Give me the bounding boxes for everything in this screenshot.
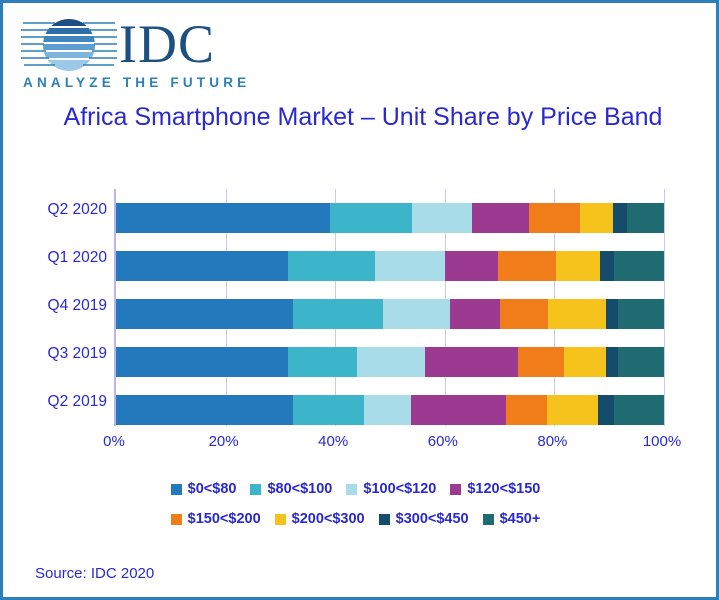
bar-segment[interactable]: [288, 251, 375, 281]
bar-segment[interactable]: [383, 299, 450, 329]
bar-segment[interactable]: [556, 251, 600, 281]
legend-swatch-icon: [250, 484, 261, 495]
legend-swatch-icon: [450, 484, 461, 495]
legend-label: $80<$100: [267, 481, 332, 497]
legend-item[interactable]: $0<$80: [171, 481, 237, 497]
bar-segment[interactable]: [425, 347, 518, 377]
chart-legend: $0<$80$80<$100$100<$120$120<$150$150<$20…: [3, 481, 719, 543]
legend-item[interactable]: $80<$100: [250, 481, 332, 497]
legend-row: $0<$80$80<$100$100<$120$120<$150: [3, 481, 719, 497]
bar-segment[interactable]: [548, 299, 606, 329]
bar-segment[interactable]: [116, 251, 288, 281]
chart-card: IDC ANALYZE THE FUTURE Africa Smartphone…: [0, 0, 719, 600]
bar-segment[interactable]: [506, 395, 547, 425]
bar-segment[interactable]: [472, 203, 529, 233]
legend-label: $0<$80: [188, 481, 237, 497]
y-axis-category-labels: Q2 2020Q1 2020Q4 2019Q3 2019Q2 2019: [23, 183, 111, 426]
bar-row: [116, 203, 662, 233]
bar-segment[interactable]: [618, 299, 664, 329]
bar-segment[interactable]: [375, 251, 445, 281]
bar-segment[interactable]: [614, 251, 664, 281]
legend-swatch-icon: [379, 514, 390, 525]
bar-segment[interactable]: [598, 395, 614, 425]
legend-item[interactable]: $450+: [483, 511, 541, 527]
bar-row: [116, 395, 662, 425]
legend-swatch-icon: [275, 514, 286, 525]
legend-item[interactable]: $300<$450: [379, 511, 469, 527]
bar-segment[interactable]: [618, 347, 664, 377]
x-tick-40pct: 40%: [318, 433, 348, 450]
bar-row: [116, 347, 662, 377]
bar-segment[interactable]: [116, 299, 293, 329]
x-tick-20pct: 20%: [209, 433, 239, 450]
idc-globe-icon: [21, 17, 117, 73]
bar-row: [116, 299, 662, 329]
chart-title: Africa Smartphone Market – Unit Share by…: [63, 101, 663, 134]
x-tick-100pct: 100%: [643, 433, 681, 450]
legend-row: $150<$200$200<$300$300<$450$450+: [3, 511, 719, 527]
legend-swatch-icon: [171, 484, 182, 495]
y-axis-label-q2-2020: Q2 2020: [23, 201, 107, 219]
bar-segment[interactable]: [614, 395, 664, 425]
legend-label: $200<$300: [292, 511, 365, 527]
x-axis-tick-labels: 0%20%40%60%80%100%: [114, 433, 662, 457]
legend-label: $450+: [500, 511, 541, 527]
legend-item[interactable]: $200<$300: [275, 511, 365, 527]
bar-segment[interactable]: [116, 347, 288, 377]
legend-item[interactable]: $150<$200: [171, 511, 261, 527]
bar-segment[interactable]: [547, 395, 599, 425]
plot-area: [114, 189, 662, 426]
bar-segment[interactable]: [357, 347, 425, 377]
x-tick-60pct: 60%: [428, 433, 458, 450]
idc-logo: IDC ANALYZE THE FUTURE: [21, 17, 301, 91]
legend-label: $150<$200: [188, 511, 261, 527]
bar-segment[interactable]: [529, 203, 580, 233]
bar-segment[interactable]: [500, 299, 548, 329]
legend-label: $100<$120: [363, 481, 436, 497]
legend-swatch-icon: [483, 514, 494, 525]
bar-segment[interactable]: [288, 347, 357, 377]
y-axis-label-q4-2019: Q4 2019: [23, 297, 107, 315]
bar-segment[interactable]: [293, 299, 383, 329]
chart-plot: Q2 2020Q1 2020Q4 2019Q3 2019Q2 2019 0%20…: [3, 183, 719, 448]
legend-label: $300<$450: [396, 511, 469, 527]
legend-swatch-icon: [346, 484, 357, 495]
bar-segment[interactable]: [293, 395, 364, 425]
legend-item[interactable]: $100<$120: [346, 481, 436, 497]
bar-segment[interactable]: [606, 299, 618, 329]
bar-segment[interactable]: [580, 203, 613, 233]
bar-segment[interactable]: [412, 203, 472, 233]
bar-segment[interactable]: [613, 203, 627, 233]
y-axis-label-q1-2020: Q1 2020: [23, 249, 107, 267]
idc-wordmark: IDC: [119, 13, 215, 75]
idc-tagline: ANALYZE THE FUTURE: [23, 75, 250, 90]
bar-segment[interactable]: [116, 203, 330, 233]
legend-swatch-icon: [171, 514, 182, 525]
legend-label: $120<$150: [467, 481, 540, 497]
x-tick-80pct: 80%: [537, 433, 567, 450]
bar-segment[interactable]: [627, 203, 664, 233]
legend-item[interactable]: $120<$150: [450, 481, 540, 497]
bar-segment[interactable]: [411, 395, 506, 425]
bar-segment[interactable]: [564, 347, 606, 377]
bar-segment[interactable]: [364, 395, 411, 425]
x-tick-0pct: 0%: [103, 433, 125, 450]
bar-segment[interactable]: [445, 251, 498, 281]
gridline-100: [664, 189, 665, 426]
source-note: Source: IDC 2020: [35, 565, 154, 582]
y-axis-label-q2-2019: Q2 2019: [23, 393, 107, 411]
bar-segment[interactable]: [498, 251, 556, 281]
bar-segment[interactable]: [606, 347, 618, 377]
bar-segment[interactable]: [116, 395, 293, 425]
bar-segment[interactable]: [518, 347, 564, 377]
bar-segment[interactable]: [450, 299, 499, 329]
bar-row: [116, 251, 662, 281]
bar-segment[interactable]: [330, 203, 412, 233]
y-axis-label-q3-2019: Q3 2019: [23, 345, 107, 363]
bar-segment[interactable]: [600, 251, 614, 281]
